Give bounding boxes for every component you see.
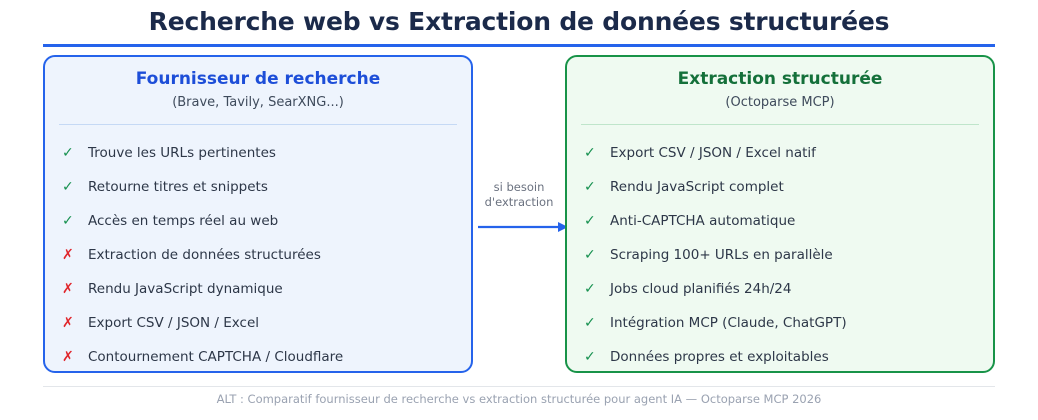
list-item-label: Retourne titres et snippets <box>88 179 268 195</box>
check-icon: ✓ <box>62 179 88 195</box>
right-panel-subheading: (Octoparse MCP) <box>567 95 993 110</box>
check-icon: ✓ <box>584 349 610 365</box>
check-icon: ✓ <box>584 179 610 195</box>
list-item: ✗ Rendu JavaScript dynamique <box>45 272 471 306</box>
left-panel-heading: Fournisseur de recherche <box>45 69 471 89</box>
list-item-label: Contournement CAPTCHA / Cloudflare <box>88 349 343 365</box>
list-item: ✗ Export CSV / JSON / Excel <box>45 306 471 340</box>
list-item-label: Accès en temps réel au web <box>88 213 278 229</box>
left-panel-divider <box>59 124 457 125</box>
page-title: Recherche web vs Extraction de données s… <box>0 7 1038 36</box>
list-item: ✓ Intégration MCP (Claude, ChatGPT) <box>567 306 993 340</box>
list-item: ✗ Extraction de données structurées <box>45 238 471 272</box>
list-item: ✓ Retourne titres et snippets <box>45 170 471 204</box>
check-icon: ✓ <box>584 281 610 297</box>
list-item-label: Rendu JavaScript complet <box>610 179 784 195</box>
check-icon: ✓ <box>584 315 610 331</box>
footer-alt-text: ALT : Comparatif fournisseur de recherch… <box>0 392 1038 406</box>
check-icon: ✓ <box>584 145 610 161</box>
check-icon: ✓ <box>584 213 610 229</box>
check-icon: ✓ <box>584 247 610 263</box>
list-item: ✓ Données propres et exploitables <box>567 340 993 374</box>
list-item: ✓ Trouve les URLs pertinentes <box>45 136 471 170</box>
list-item-label: Données propres et exploitables <box>610 349 829 365</box>
list-item: ✓ Rendu JavaScript complet <box>567 170 993 204</box>
list-item: ✗ Contournement CAPTCHA / Cloudflare <box>45 340 471 374</box>
list-item-label: Jobs cloud planifiés 24h/24 <box>610 281 791 297</box>
cross-icon: ✗ <box>62 349 88 365</box>
cross-icon: ✗ <box>62 281 88 297</box>
list-item-label: Rendu JavaScript dynamique <box>88 281 283 297</box>
list-item: ✓ Scraping 100+ URLs en parallèle <box>567 238 993 272</box>
search-provider-panel: Fournisseur de recherche (Brave, Tavily,… <box>43 55 473 373</box>
cross-icon: ✗ <box>62 315 88 331</box>
left-panel-subheading: (Brave, Tavily, SearXNG...) <box>45 95 471 110</box>
right-feature-list: ✓ Export CSV / JSON / Excel natif ✓ Rend… <box>567 136 993 374</box>
right-panel-divider <box>581 124 979 125</box>
list-item: ✓ Export CSV / JSON / Excel natif <box>567 136 993 170</box>
list-item-label: Export CSV / JSON / Excel natif <box>610 145 816 161</box>
list-item: ✓ Jobs cloud planifiés 24h/24 <box>567 272 993 306</box>
structured-extraction-panel: Extraction structurée (Octoparse MCP) ✓ … <box>565 55 995 373</box>
list-item-label: Scraping 100+ URLs en parallèle <box>610 247 833 263</box>
right-arrow-icon <box>478 221 568 233</box>
cross-icon: ✗ <box>62 247 88 263</box>
list-item: ✓ Accès en temps réel au web <box>45 204 471 238</box>
footer-divider <box>43 386 995 387</box>
connector-label-line1: si besoin <box>473 180 565 195</box>
check-icon: ✓ <box>62 213 88 229</box>
list-item-label: Trouve les URLs pertinentes <box>88 145 276 161</box>
list-item-label: Extraction de données structurées <box>88 247 321 263</box>
list-item-label: Export CSV / JSON / Excel <box>88 315 259 331</box>
connector-label: si besoin d'extraction <box>473 180 565 210</box>
list-item: ✓ Anti-CAPTCHA automatique <box>567 204 993 238</box>
connector-label-line2: d'extraction <box>473 195 565 210</box>
list-item-label: Anti-CAPTCHA automatique <box>610 213 795 229</box>
list-item-label: Intégration MCP (Claude, ChatGPT) <box>610 315 847 331</box>
title-underline-rule <box>43 44 995 47</box>
left-feature-list: ✓ Trouve les URLs pertinentes ✓ Retourne… <box>45 136 471 374</box>
check-icon: ✓ <box>62 145 88 161</box>
right-panel-heading: Extraction structurée <box>567 69 993 89</box>
